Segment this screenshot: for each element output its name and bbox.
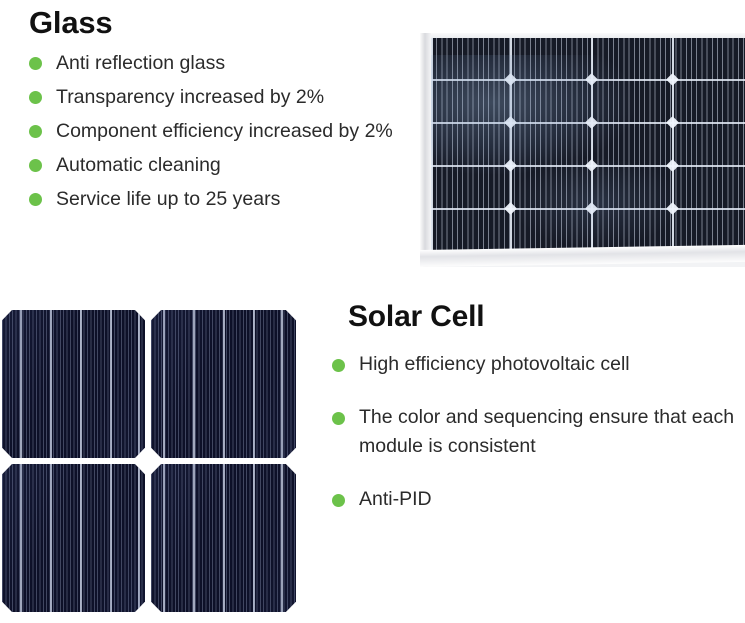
module-column-seam bbox=[510, 38, 512, 254]
module-laminate bbox=[431, 38, 745, 254]
module-frame-top bbox=[420, 33, 745, 38]
module-photo bbox=[420, 33, 745, 267]
module-finger-lines bbox=[431, 38, 745, 254]
glass-feature-label: Service life up to 25 years bbox=[56, 184, 424, 215]
bullet-dot-icon bbox=[29, 91, 42, 104]
glass-feature-label: Component efficiency increased by 2% bbox=[56, 116, 424, 147]
cell-sheen bbox=[2, 310, 145, 458]
bullet-dot-icon bbox=[332, 494, 345, 507]
cell-sheen bbox=[151, 310, 296, 458]
glass-section: Glass Anti reflection glass Transparency… bbox=[29, 4, 424, 218]
solar-cell-feature-list: High efficiency photovoltaic cell The co… bbox=[325, 350, 745, 514]
solar-cell bbox=[151, 310, 296, 458]
bullet-dot-icon bbox=[332, 359, 345, 372]
glass-feature-item: Service life up to 25 years bbox=[29, 184, 424, 215]
glass-feature-label: Transparency increased by 2% bbox=[56, 82, 424, 113]
glass-feature-item: Transparency increased by 2% bbox=[29, 82, 424, 113]
module-column-seam bbox=[672, 38, 674, 254]
solar-cell bbox=[2, 464, 145, 612]
solar-cell-feature-item: Anti-PID bbox=[325, 485, 745, 514]
glass-section-title: Glass bbox=[29, 4, 424, 42]
module-column-seam bbox=[431, 38, 433, 254]
solar-cell-feature-label: Anti-PID bbox=[359, 485, 745, 514]
glass-feature-list: Anti reflection glass Transparency incre… bbox=[29, 48, 424, 215]
glass-feature-item: Automatic cleaning bbox=[29, 150, 424, 181]
glass-feature-label: Automatic cleaning bbox=[56, 150, 424, 181]
module-column-seam bbox=[591, 38, 593, 254]
bullet-dot-icon bbox=[29, 193, 42, 206]
solar-cell-section-title: Solar Cell bbox=[325, 298, 745, 336]
bullet-dot-icon bbox=[29, 57, 42, 70]
solar-cell bbox=[151, 464, 296, 612]
solar-cell-feature-item: The color and sequencing ensure that eac… bbox=[325, 403, 745, 461]
solar-cell bbox=[2, 310, 145, 458]
solar-cell-feature-label: The color and sequencing ensure that eac… bbox=[359, 403, 745, 461]
bullet-dot-icon bbox=[332, 412, 345, 425]
solar-cell-feature-label: High efficiency photovoltaic cell bbox=[359, 350, 745, 379]
glass-feature-item: Anti reflection glass bbox=[29, 48, 424, 79]
glass-feature-label: Anti reflection glass bbox=[56, 48, 424, 79]
glass-feature-item: Component efficiency increased by 2% bbox=[29, 116, 424, 147]
solar-cell-section: Solar Cell High efficiency photovoltaic … bbox=[325, 298, 745, 538]
bullet-dot-icon bbox=[29, 125, 42, 138]
bullet-dot-icon bbox=[29, 159, 42, 172]
cell-sheen bbox=[2, 464, 145, 612]
cell-sheen bbox=[151, 464, 296, 612]
solar-cell-feature-item: High efficiency photovoltaic cell bbox=[325, 350, 745, 379]
solar-cells-photo bbox=[0, 310, 298, 612]
